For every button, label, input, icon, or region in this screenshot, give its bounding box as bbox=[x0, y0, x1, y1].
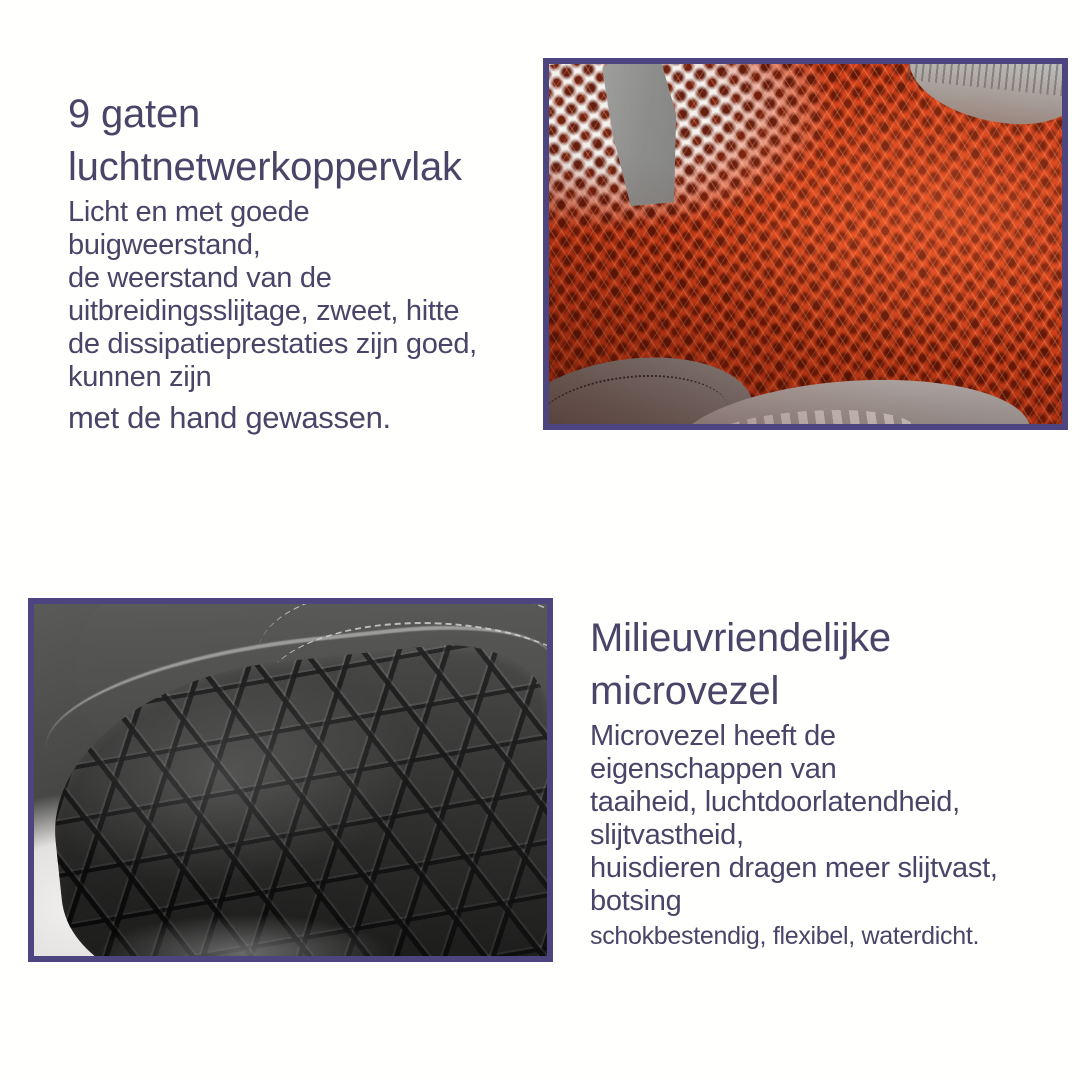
fiber-body-line-1: Microvezel heeft de bbox=[590, 720, 1040, 753]
mesh-shading bbox=[549, 64, 1062, 424]
mesh-body-line-5: de dissipatieprestaties zijn goed, bbox=[68, 328, 538, 361]
mesh-body-line-6: kunnen zijn bbox=[68, 361, 538, 394]
feature-block-fiber: Milieuvriendelijke microvezel Microvezel… bbox=[590, 612, 1040, 952]
mesh-heading-line-2: luchtnetwerkoppervlak bbox=[68, 141, 538, 194]
mesh-heading-line-1: 9 gaten bbox=[68, 88, 538, 141]
mesh-photo-frame bbox=[543, 58, 1068, 430]
sole-drop-shadow bbox=[96, 914, 394, 956]
fiber-body-line-2: eigenschappen van bbox=[590, 753, 1040, 786]
fiber-heading-line-1: Milieuvriendelijke bbox=[590, 612, 1040, 665]
fiber-closing-line: schokbestendig, flexibel, waterdicht. bbox=[590, 920, 1040, 952]
sole-photo-frame bbox=[28, 598, 553, 962]
mesh-closing-line: met de hand gewassen. bbox=[68, 398, 538, 438]
mesh-body-line-3: de weerstand van de bbox=[68, 262, 538, 295]
product-feature-page: 9 gaten luchtnetwerkoppervlak Licht en m… bbox=[0, 0, 1080, 1080]
sole-photo bbox=[34, 604, 547, 956]
mesh-body-line-1: Licht en met goede bbox=[68, 196, 538, 229]
fiber-heading-line-2: microvezel bbox=[590, 665, 1040, 718]
mesh-body-line-4: uitbreidingsslijtage, zweet, hitte bbox=[68, 295, 538, 328]
mesh-photo bbox=[549, 64, 1062, 424]
mesh-body-line-2: buigweerstand, bbox=[68, 229, 538, 262]
fiber-body-line-5: huisdieren dragen meer slijtvast, bbox=[590, 852, 1040, 885]
fiber-body-line-3: taaiheid, luchtdoorlatendheid, bbox=[590, 786, 1040, 819]
fiber-body-line-4: slijtvastheid, bbox=[590, 819, 1040, 852]
feature-block-mesh: 9 gaten luchtnetwerkoppervlak Licht en m… bbox=[68, 88, 538, 438]
fiber-body-line-6: botsing bbox=[590, 885, 1040, 918]
